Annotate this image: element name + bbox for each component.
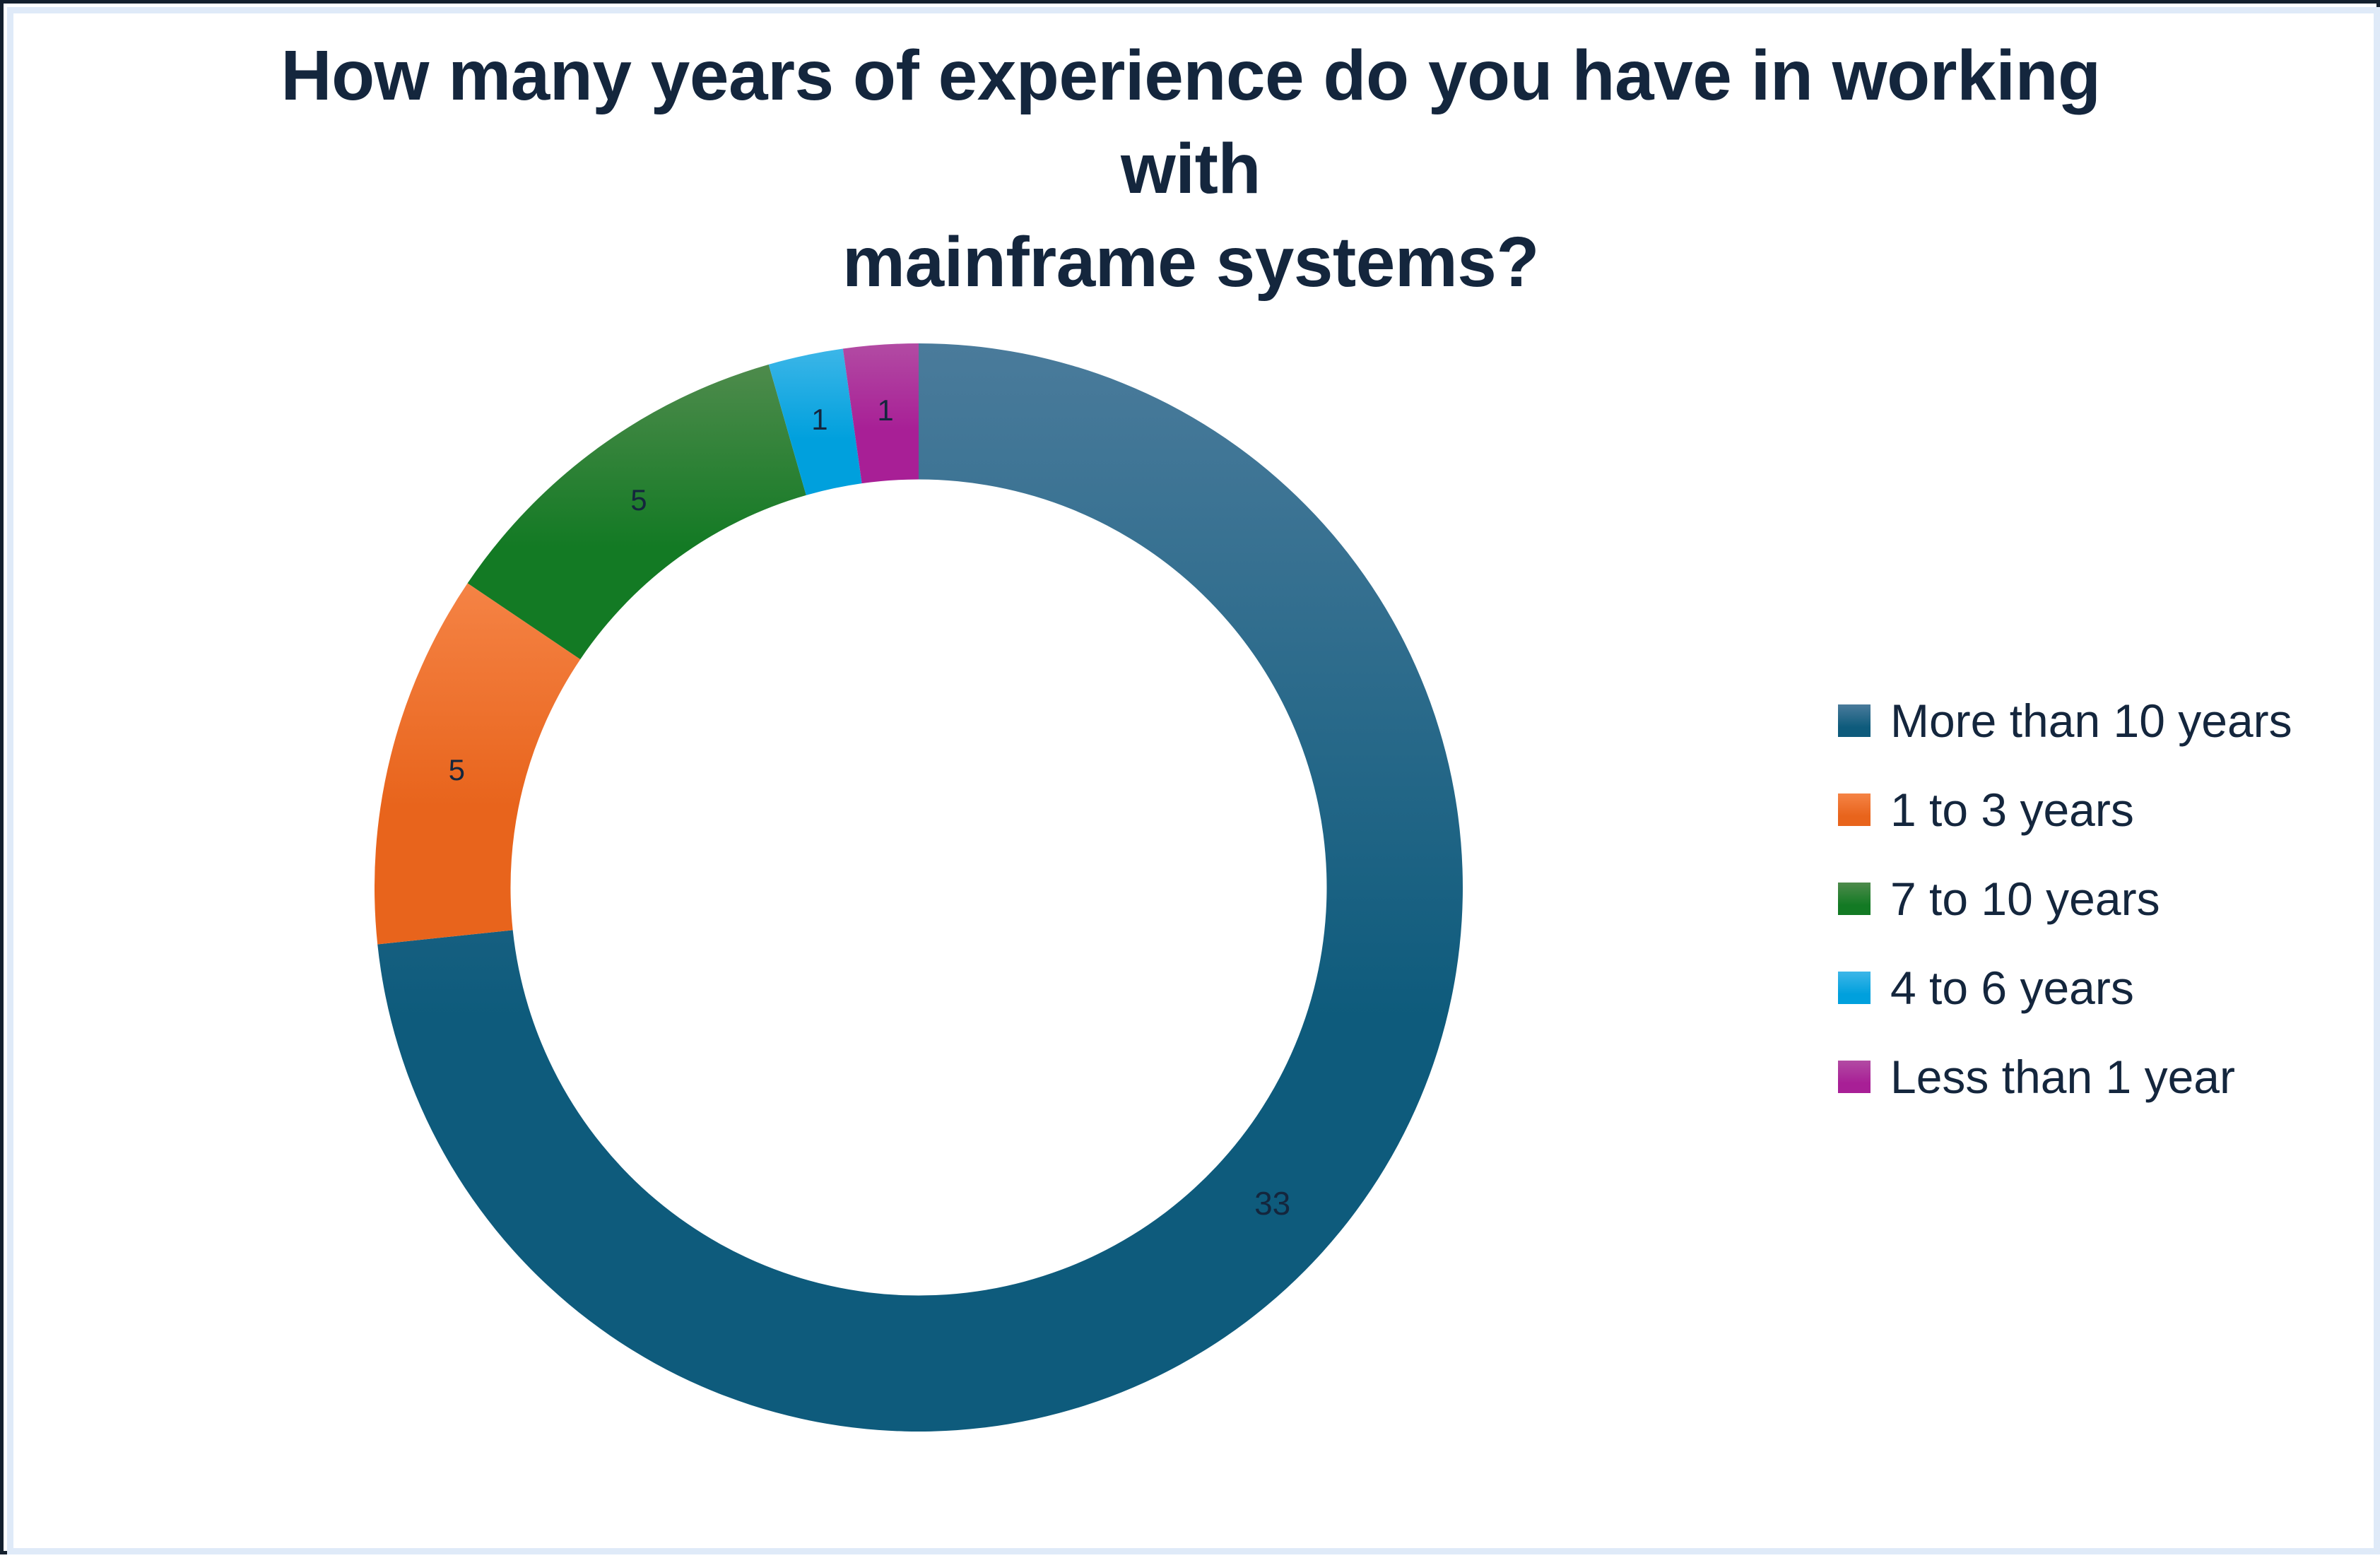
donut-slice-label: 5 xyxy=(630,483,647,517)
legend-item[interactable]: 1 to 3 years xyxy=(1838,765,2361,854)
legend-label: 7 to 10 years xyxy=(1890,875,2160,922)
legend-item[interactable]: 7 to 10 years xyxy=(1838,854,2361,943)
legend-swatch-icon xyxy=(1838,883,1871,915)
donut-slice-label: 1 xyxy=(811,403,827,436)
legend-label: 1 to 3 years xyxy=(1890,786,2134,833)
legend-swatch-icon xyxy=(1838,972,1871,1004)
donut-svg: 335511 xyxy=(375,343,1463,1432)
legend-item[interactable]: More than 10 years xyxy=(1838,676,2361,765)
chart-plot-area: 335511 xyxy=(4,4,1798,1558)
legend-item[interactable]: Less than 1 year xyxy=(1838,1032,2361,1121)
legend-swatch-icon xyxy=(1838,1061,1871,1093)
donut-slice-label: 1 xyxy=(877,394,893,427)
donut-slice-group xyxy=(375,343,1463,1432)
legend-item[interactable]: 4 to 6 years xyxy=(1838,943,2361,1032)
chart-legend: More than 10 years1 to 3 years7 to 10 ye… xyxy=(1838,676,2361,1121)
legend-label: Less than 1 year xyxy=(1890,1054,2235,1100)
donut-slice-label: 5 xyxy=(449,753,465,786)
legend-swatch-icon xyxy=(1838,793,1871,826)
chart-frame: How many years of experience do you have… xyxy=(0,0,2380,1554)
donut-slice-label: 33 xyxy=(1254,1185,1290,1222)
legend-label: More than 10 years xyxy=(1890,697,2292,744)
legend-label: 4 to 6 years xyxy=(1890,964,2134,1011)
donut-chart: 335511 xyxy=(375,343,1463,1432)
legend-swatch-icon xyxy=(1838,704,1871,737)
